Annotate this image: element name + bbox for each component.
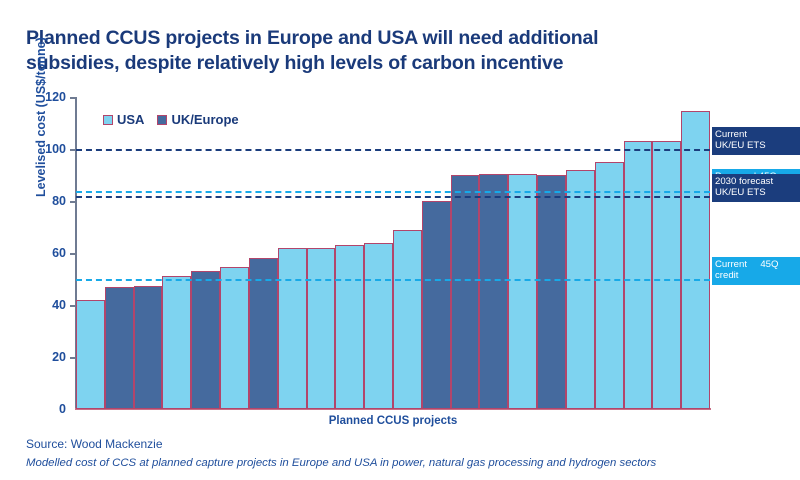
annotation-1: CurrentUK/EU ETS (712, 127, 800, 155)
legend-label-uk-europe: UK/Europe (171, 112, 238, 127)
y-axis-tick-label: 120 (26, 90, 66, 104)
bar-10[interactable] (335, 245, 364, 409)
bar-20[interactable] (624, 141, 653, 409)
annotation-line-1: 2030 forecast (715, 176, 800, 187)
legend: USA UK/Europe (103, 112, 239, 127)
bar-18[interactable] (566, 170, 595, 409)
legend-item-usa: USA (103, 112, 144, 127)
bar-13[interactable] (422, 201, 451, 409)
bar-5[interactable] (191, 271, 220, 409)
annotation-3: 2030 forecastUK/EU ETS (712, 174, 800, 202)
bar-8[interactable] (278, 248, 307, 409)
y-axis-tick-label: 0 (26, 402, 66, 416)
y-axis-tick-label: 20 (26, 350, 66, 364)
bar-16[interactable] (508, 174, 537, 409)
title-line-1: Planned CCUS projects in Europe and USA … (26, 26, 726, 51)
legend-swatch-usa-icon (103, 115, 113, 125)
bar-2[interactable] (105, 287, 134, 409)
bar-series (76, 97, 710, 409)
bar-9[interactable] (307, 248, 336, 409)
bar-15[interactable] (479, 174, 508, 409)
annotation-line-2: credit (715, 270, 800, 281)
page-title: Planned CCUS projects in Europe and USA … (26, 26, 726, 76)
source-text: Source: Wood Mackenzie (26, 437, 163, 451)
annotation-4: Current 45Qcredit (712, 257, 800, 285)
annotation-line-1: Current 45Q (715, 259, 800, 270)
reference-line-3 (76, 196, 710, 198)
y-axis-tick-label: 40 (26, 298, 66, 312)
y-axis-title: Levelised cost (US$/tonne) (34, 37, 48, 197)
annotation-line-1: Current (715, 129, 800, 140)
annotation-line-2: UK/EU ETS (715, 187, 800, 198)
bar-1[interactable] (76, 300, 105, 409)
bar-12[interactable] (393, 230, 422, 409)
bar-11[interactable] (364, 243, 393, 409)
chart-page: Planned CCUS projects in Europe and USA … (0, 0, 800, 480)
annotation-line-2: UK/EU ETS (715, 140, 800, 151)
y-axis-tick-label: 60 (26, 246, 66, 260)
y-axis-tick-label: 100 (26, 142, 66, 156)
y-axis-tick-label: 80 (26, 194, 66, 208)
footnote-text: Modelled cost of CCS at planned capture … (26, 457, 656, 469)
plot-area: Levelised cost (US$/tonne) 0204060801001… (76, 97, 710, 409)
bar-19[interactable] (595, 162, 624, 409)
bar-3[interactable] (134, 286, 163, 410)
reference-line-1 (76, 149, 710, 151)
legend-label-usa: USA (117, 112, 144, 127)
bar-14[interactable] (451, 175, 480, 409)
bar-17[interactable] (537, 175, 566, 409)
reference-line-4 (76, 279, 710, 281)
bar-4[interactable] (162, 276, 191, 409)
bar-6[interactable] (220, 267, 249, 409)
reference-line-2 (76, 191, 710, 193)
bar-21[interactable] (652, 141, 681, 409)
x-axis-title: Planned CCUS projects (76, 415, 710, 427)
legend-swatch-uk-europe-icon (157, 115, 167, 125)
title-line-2: subsidies, despite relatively high level… (26, 51, 726, 76)
legend-item-uk-europe: UK/Europe (157, 112, 238, 127)
bar-22[interactable] (681, 111, 710, 409)
